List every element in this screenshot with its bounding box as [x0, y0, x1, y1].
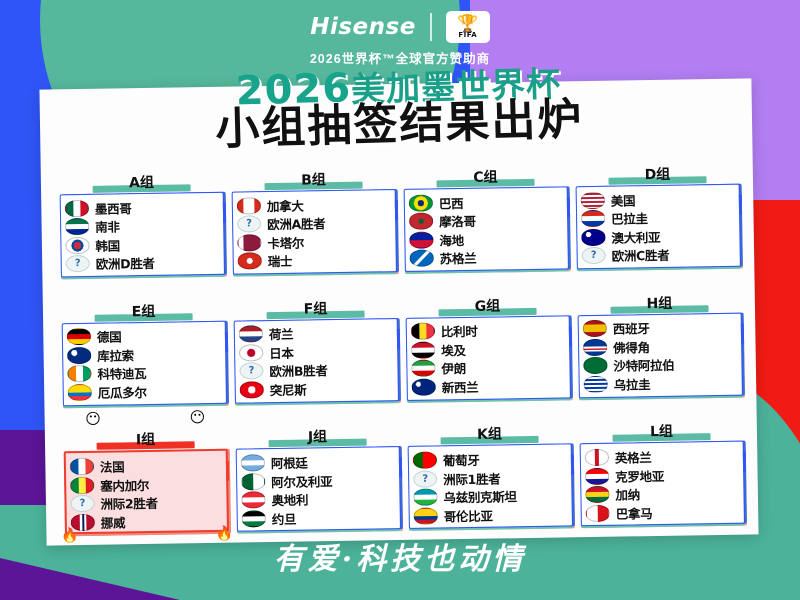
- group-team-list: 巴西摩洛哥海地苏格兰: [404, 186, 569, 272]
- group-team-list: 葡萄牙?洲际1胜者乌兹别克斯坦哥伦比亚: [408, 444, 573, 530]
- team-row[interactable]: 约旦: [242, 507, 395, 528]
- team-row[interactable]: 突尼斯: [240, 378, 393, 399]
- team-row[interactable]: 澳大利亚: [581, 226, 734, 247]
- team-name: 巴拉圭: [611, 208, 648, 228]
- team-row[interactable]: 挪威: [71, 511, 222, 532]
- team-name: 荷兰: [269, 324, 294, 343]
- team-name: 巴拿马: [616, 503, 653, 523]
- team-name: 挪威: [101, 512, 126, 531]
- team-row[interactable]: ?欧洲C胜者: [582, 244, 735, 265]
- team-name: 伊朗: [441, 358, 466, 377]
- team-name: 卡塔尔: [267, 232, 304, 252]
- flag-icon-qatar: [237, 234, 261, 251]
- brand-row: Hisense 🏆 FIFA: [0, 10, 800, 44]
- fifa-world-cup-trophy-icon: 🏆 FIFA: [446, 11, 490, 43]
- group-title: A组: [59, 173, 223, 195]
- group-title: K组: [407, 425, 571, 447]
- team-name: 阿根廷: [271, 453, 308, 473]
- group-title: L组: [579, 422, 743, 444]
- flag-icon-austria: [241, 491, 265, 508]
- team-row[interactable]: 海地: [409, 228, 562, 249]
- team-name: 乌兹别克斯坦: [443, 486, 516, 506]
- group-title-label: I组: [136, 432, 155, 448]
- team-name: 欧洲A胜者: [267, 213, 325, 233]
- team-name: 哥伦比亚: [444, 505, 493, 525]
- team-name: 约旦: [272, 508, 297, 527]
- team-name: 库拉索: [97, 345, 134, 365]
- flag-icon-south-africa: [65, 218, 89, 235]
- flag-icon-panama: [586, 504, 610, 521]
- team-row[interactable]: ?欧洲D胜者: [66, 252, 219, 273]
- header: Hisense 🏆 FIFA 2026世界杯™全球官方赞助商: [0, 10, 800, 67]
- team-row[interactable]: 法国: [70, 455, 221, 476]
- team-row[interactable]: 南非: [65, 215, 218, 236]
- team-name: 法国: [100, 456, 125, 475]
- flag-icon-mexico: [65, 200, 89, 217]
- question-mark-icon: ?: [237, 215, 261, 232]
- group-title: B组: [231, 170, 395, 192]
- face-emoji-icon: 😶: [189, 410, 205, 425]
- team-row[interactable]: 厄瓜多尔: [68, 381, 221, 402]
- team-row[interactable]: 韩国: [65, 234, 218, 255]
- team-name: 巴西: [439, 193, 464, 212]
- team-name: 澳大利亚: [611, 227, 660, 247]
- hisense-logo: Hisense: [310, 14, 416, 40]
- team-row[interactable]: 比利时: [411, 320, 564, 341]
- group-title-label: C组: [473, 169, 498, 185]
- team-name: 海地: [439, 230, 464, 249]
- group-card[interactable]: C组巴西摩洛哥海地苏格兰: [403, 147, 569, 272]
- team-row[interactable]: 奥地利: [241, 488, 394, 509]
- fifa-label: FIFA: [458, 31, 477, 39]
- group-title-label: D组: [645, 167, 671, 183]
- team-row[interactable]: 巴西: [409, 191, 562, 212]
- flag-icon-curacao: [67, 347, 91, 364]
- team-row[interactable]: 阿尔及利亚: [241, 470, 394, 491]
- team-name: 瑞士: [268, 251, 293, 270]
- group-team-list: 墨西哥南非韩国?欧洲D胜者: [60, 192, 225, 278]
- group-card[interactable]: J组阿根廷阿尔及利亚奥地利约旦: [235, 407, 401, 532]
- flag-icon-australia: [581, 229, 605, 246]
- flag-icon-argentina: [241, 454, 265, 471]
- group-card[interactable]: 😶😶I组法国塞内加尔?洲际2胜者挪威🔥🔥: [63, 410, 229, 535]
- question-mark-icon: ?: [582, 247, 606, 264]
- group-card[interactable]: K组葡萄牙?洲际1胜者乌兹别克斯坦哥伦比亚: [407, 405, 573, 530]
- team-row[interactable]: 加拿大: [237, 194, 390, 215]
- group-title: E组: [61, 301, 225, 323]
- flag-icon-croatia: [585, 467, 609, 484]
- flag-icon-ivory-coast: [67, 365, 91, 382]
- team-name: 英格兰: [615, 447, 652, 467]
- flag-icon-uzbekistan: [413, 489, 437, 506]
- flag-icon-ghana: [585, 486, 609, 503]
- team-row[interactable]: 新西兰: [412, 376, 565, 397]
- group-title-label: G组: [475, 298, 501, 314]
- team-name: 摩洛哥: [439, 211, 476, 231]
- team-row[interactable]: 克罗地亚: [585, 465, 738, 486]
- team-row[interactable]: 美国: [581, 189, 734, 210]
- team-name: 美国: [611, 190, 636, 209]
- team-row[interactable]: 巴拉圭: [581, 207, 734, 228]
- team-row[interactable]: 加纳: [585, 483, 738, 504]
- team-row[interactable]: 乌拉圭: [584, 373, 737, 394]
- trophy-glyph: 🏆: [457, 16, 478, 31]
- team-name: 韩国: [95, 235, 120, 254]
- team-name: 阿尔及利亚: [271, 471, 332, 491]
- flag-icon-portugal: [413, 452, 437, 469]
- flag-icon-paraguay: [581, 210, 605, 227]
- team-name: 日本: [269, 343, 294, 362]
- flag-icon-morocco: [409, 213, 433, 230]
- flag-icon-ecuador: [68, 384, 92, 401]
- group-title-label: K组: [477, 427, 502, 443]
- team-row[interactable]: 伊朗: [411, 357, 564, 378]
- team-row[interactable]: 荷兰: [239, 323, 392, 344]
- team-name: 乌拉圭: [614, 374, 651, 394]
- flag-icon-saudi-arabia: [583, 357, 607, 374]
- group-title-label: J组: [308, 430, 327, 446]
- team-row[interactable]: 葡萄牙: [413, 449, 566, 470]
- team-name: 西班牙: [613, 319, 650, 339]
- team-name: 科特迪瓦: [97, 363, 146, 383]
- flag-icon-uruguay: [584, 376, 608, 393]
- team-name: 比利时: [441, 321, 478, 341]
- group-card[interactable]: E组德国库拉索科特迪瓦厄瓜多尔: [61, 281, 227, 406]
- group-title-label: L组: [650, 424, 673, 440]
- flag-icon-algeria: [241, 473, 265, 490]
- team-name: 埃及: [441, 340, 466, 359]
- team-row[interactable]: 佛得角: [583, 336, 736, 357]
- team-row[interactable]: 摩洛哥: [409, 210, 562, 231]
- team-name: 突尼斯: [270, 379, 307, 399]
- team-row[interactable]: 埃及: [411, 339, 564, 360]
- group-team-list: 美国巴拉圭澳大利亚?欧洲C胜者: [576, 184, 741, 270]
- team-name: 厄瓜多尔: [98, 382, 147, 402]
- group-title: D组: [575, 165, 739, 187]
- flag-icon-colombia: [414, 507, 438, 524]
- group-team-list: 比利时埃及伊朗新西兰: [406, 315, 571, 401]
- flag-icon-netherlands: [239, 326, 263, 343]
- team-name: 洲际1胜者: [443, 468, 500, 488]
- team-name: 墨西哥: [95, 198, 132, 218]
- team-name: 塞内加尔: [100, 475, 149, 495]
- question-mark-icon: ?: [70, 495, 94, 512]
- team-row[interactable]: 乌兹别克斯坦: [413, 486, 566, 507]
- team-row[interactable]: 卡塔尔: [237, 231, 390, 252]
- team-row[interactable]: 西班牙: [583, 317, 736, 338]
- team-name: 欧洲C胜者: [612, 245, 670, 265]
- sponsor-text: 2026世界杯™全球官方赞助商: [0, 48, 800, 67]
- team-row[interactable]: ?洲际1胜者: [413, 467, 566, 488]
- flag-icon-brazil: [409, 194, 433, 211]
- team-name: 南非: [95, 217, 120, 236]
- flag-icon-switzerland: [238, 252, 262, 269]
- team-name: 新西兰: [442, 377, 479, 397]
- group-card[interactable]: G组比利时埃及伊朗新西兰: [405, 276, 571, 401]
- team-row[interactable]: 日本: [239, 341, 392, 362]
- team-row[interactable]: 德国: [67, 326, 220, 347]
- team-row[interactable]: 苏格兰: [410, 247, 563, 268]
- team-name: 佛得角: [613, 337, 650, 357]
- team-name: 欧洲B胜者: [269, 361, 327, 381]
- team-name: 沙特阿拉伯: [613, 355, 674, 375]
- face-emoji-icon: 😶: [85, 412, 101, 427]
- group-card[interactable]: F组荷兰日本?欧洲B胜者突尼斯: [233, 279, 399, 404]
- group-team-list: 西班牙佛得角沙特阿拉伯乌拉圭: [578, 312, 743, 398]
- group-title: G组: [405, 296, 569, 318]
- divider: [430, 13, 432, 41]
- team-name: 欧洲D胜者: [96, 253, 155, 273]
- team-row[interactable]: 沙特阿拉伯: [583, 354, 736, 375]
- footer-tagline: 有爱·科技也动情: [0, 534, 800, 578]
- flag-icon-france: [70, 458, 94, 475]
- flag-icon-cape-verde: [583, 339, 607, 356]
- group-title-label: A组: [129, 175, 154, 191]
- group-team-list: 英格兰克罗地亚加纳巴拿马: [580, 441, 745, 527]
- group-card[interactable]: L组英格兰克罗地亚加纳巴拿马: [579, 402, 745, 527]
- group-team-list: 加拿大?欧洲A胜者卡塔尔瑞士: [232, 189, 397, 275]
- group-title-label: F组: [304, 301, 328, 317]
- flag-icon-jordan: [242, 510, 266, 527]
- team-row[interactable]: 墨西哥: [65, 197, 218, 218]
- group-team-list: 德国库拉索科特迪瓦厄瓜多尔: [62, 320, 227, 406]
- flag-icon-haiti: [409, 231, 433, 248]
- group-title-label: H组: [646, 295, 672, 311]
- team-row[interactable]: ?洲际2胜者: [70, 492, 221, 513]
- groups-grid: A组墨西哥南非韩国?欧洲D胜者B组加拿大?欧洲A胜者卡塔尔瑞士C组巴西摩洛哥海地…: [59, 145, 745, 536]
- flag-icon-spain: [583, 320, 607, 337]
- flag-icon-germany: [67, 328, 91, 345]
- group-team-list: 阿根廷阿尔及利亚奥地利约旦: [236, 446, 401, 532]
- flag-icon-iran: [411, 360, 435, 377]
- group-title-label: E组: [132, 304, 156, 320]
- team-row[interactable]: 巴拿马: [586, 502, 739, 523]
- group-card[interactable]: A组墨西哥南非韩国?欧洲D胜者: [59, 153, 225, 278]
- flag-icon-scotland: [410, 250, 434, 267]
- team-name: 奥地利: [271, 490, 308, 510]
- flag-icon-england: [585, 449, 609, 466]
- team-row[interactable]: ?欧洲B胜者: [239, 360, 392, 381]
- team-row[interactable]: 瑞士: [238, 250, 391, 271]
- team-name: 克罗地亚: [615, 465, 664, 485]
- flag-icon-belgium: [411, 323, 435, 340]
- team-row[interactable]: 科特迪瓦: [67, 363, 220, 384]
- flag-icon-usa: [581, 192, 605, 209]
- question-mark-icon: ?: [413, 470, 437, 487]
- group-title: C组: [403, 167, 567, 189]
- flag-icon-egypt: [411, 341, 435, 358]
- team-row[interactable]: 哥伦比亚: [414, 504, 567, 525]
- team-row[interactable]: 阿根廷: [241, 451, 394, 472]
- question-mark-icon: ?: [66, 255, 90, 272]
- flag-icon-south-korea: [65, 237, 89, 254]
- group-card[interactable]: H组西班牙佛得角沙特阿拉伯乌拉圭: [577, 273, 743, 398]
- flag-icon-tunisia: [240, 381, 264, 398]
- group-title: I组: [63, 430, 227, 452]
- flag-icon-japan: [239, 344, 263, 361]
- flag-icon-canada: [237, 197, 261, 214]
- team-name: 苏格兰: [440, 248, 477, 268]
- flag-icon-new-zealand: [412, 378, 436, 395]
- team-row[interactable]: 塞内加尔: [70, 474, 221, 495]
- team-name: 加拿大: [267, 195, 304, 215]
- group-team-list: 荷兰日本?欧洲B胜者突尼斯: [234, 318, 399, 404]
- group-title-label: B组: [301, 172, 326, 188]
- team-row[interactable]: 英格兰: [585, 446, 738, 467]
- team-row[interactable]: 库拉索: [67, 344, 220, 365]
- group-title: J组: [235, 427, 399, 449]
- question-mark-icon: ?: [239, 363, 263, 380]
- flag-icon-senegal: [70, 476, 94, 493]
- team-row[interactable]: ?欧洲A胜者: [237, 213, 390, 234]
- team-name: 洲际2胜者: [100, 493, 157, 513]
- group-title: H组: [577, 293, 741, 315]
- group-team-list: 法国塞内加尔?洲际2胜者挪威: [64, 449, 229, 535]
- team-name: 德国: [97, 327, 122, 346]
- team-name: 葡萄牙: [443, 450, 480, 470]
- group-card[interactable]: D组美国巴拉圭澳大利亚?欧洲C胜者: [575, 145, 741, 270]
- team-name: 加纳: [615, 484, 640, 503]
- group-title: F组: [233, 299, 397, 321]
- group-card[interactable]: B组加拿大?欧洲A胜者卡塔尔瑞士: [231, 150, 397, 275]
